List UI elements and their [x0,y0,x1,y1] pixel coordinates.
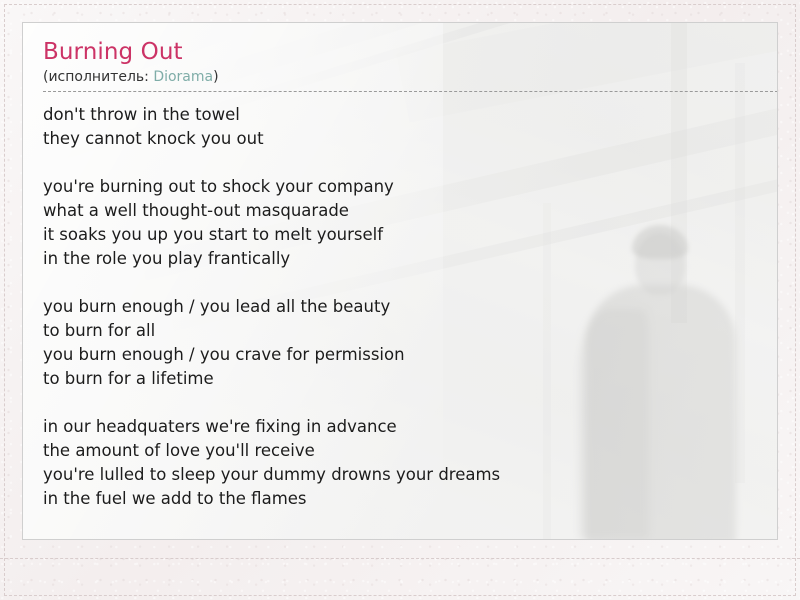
lyric-line: in our headquaters we're fixing in advan… [43,415,777,439]
lyric-line: to burn for a lifetime [43,367,777,391]
stanza-gap [43,271,777,295]
lyric-line: it soaks you up you start to melt yourse… [43,223,777,247]
slide: Burning Out (исполнитель: Diorama) don't… [0,0,800,600]
lyric-line: you're lulled to sleep your dummy drowns… [43,463,777,487]
performer-line: (исполнитель: Diorama) [43,67,778,92]
lyric-line: you're burning out to shock your company [43,175,777,199]
stanza-gap [43,151,777,175]
stanza-gap [43,391,777,415]
lyrics-body: don't throw in the towelthey cannot knoc… [43,92,777,511]
lyrics-card: Burning Out (исполнитель: Diorama) don't… [22,22,778,540]
lyric-line: in the role you play frantically [43,247,777,271]
lyric-line: you burn enough / you lead all the beaut… [43,295,777,319]
lyric-line: the amount of love you'll receive [43,439,777,463]
lyric-line: don't throw in the towel [43,103,777,127]
lyric-line: to burn for all [43,319,777,343]
card-content: Burning Out (исполнитель: Diorama) don't… [43,37,777,539]
performer-link[interactable]: Diorama [153,69,213,85]
song-title: Burning Out [43,37,777,67]
lyric-line: in the fuel we add to the flames [43,487,777,511]
performer-suffix-label: ) [213,69,218,85]
performer-prefix-label: (исполнитель: [43,69,153,85]
lyric-line: they cannot knock you out [43,127,777,151]
lyric-line: you burn enough / you crave for permissi… [43,343,777,367]
slide-footer-rule [0,558,800,559]
lyric-line: what a well thought-out masquarade [43,199,777,223]
